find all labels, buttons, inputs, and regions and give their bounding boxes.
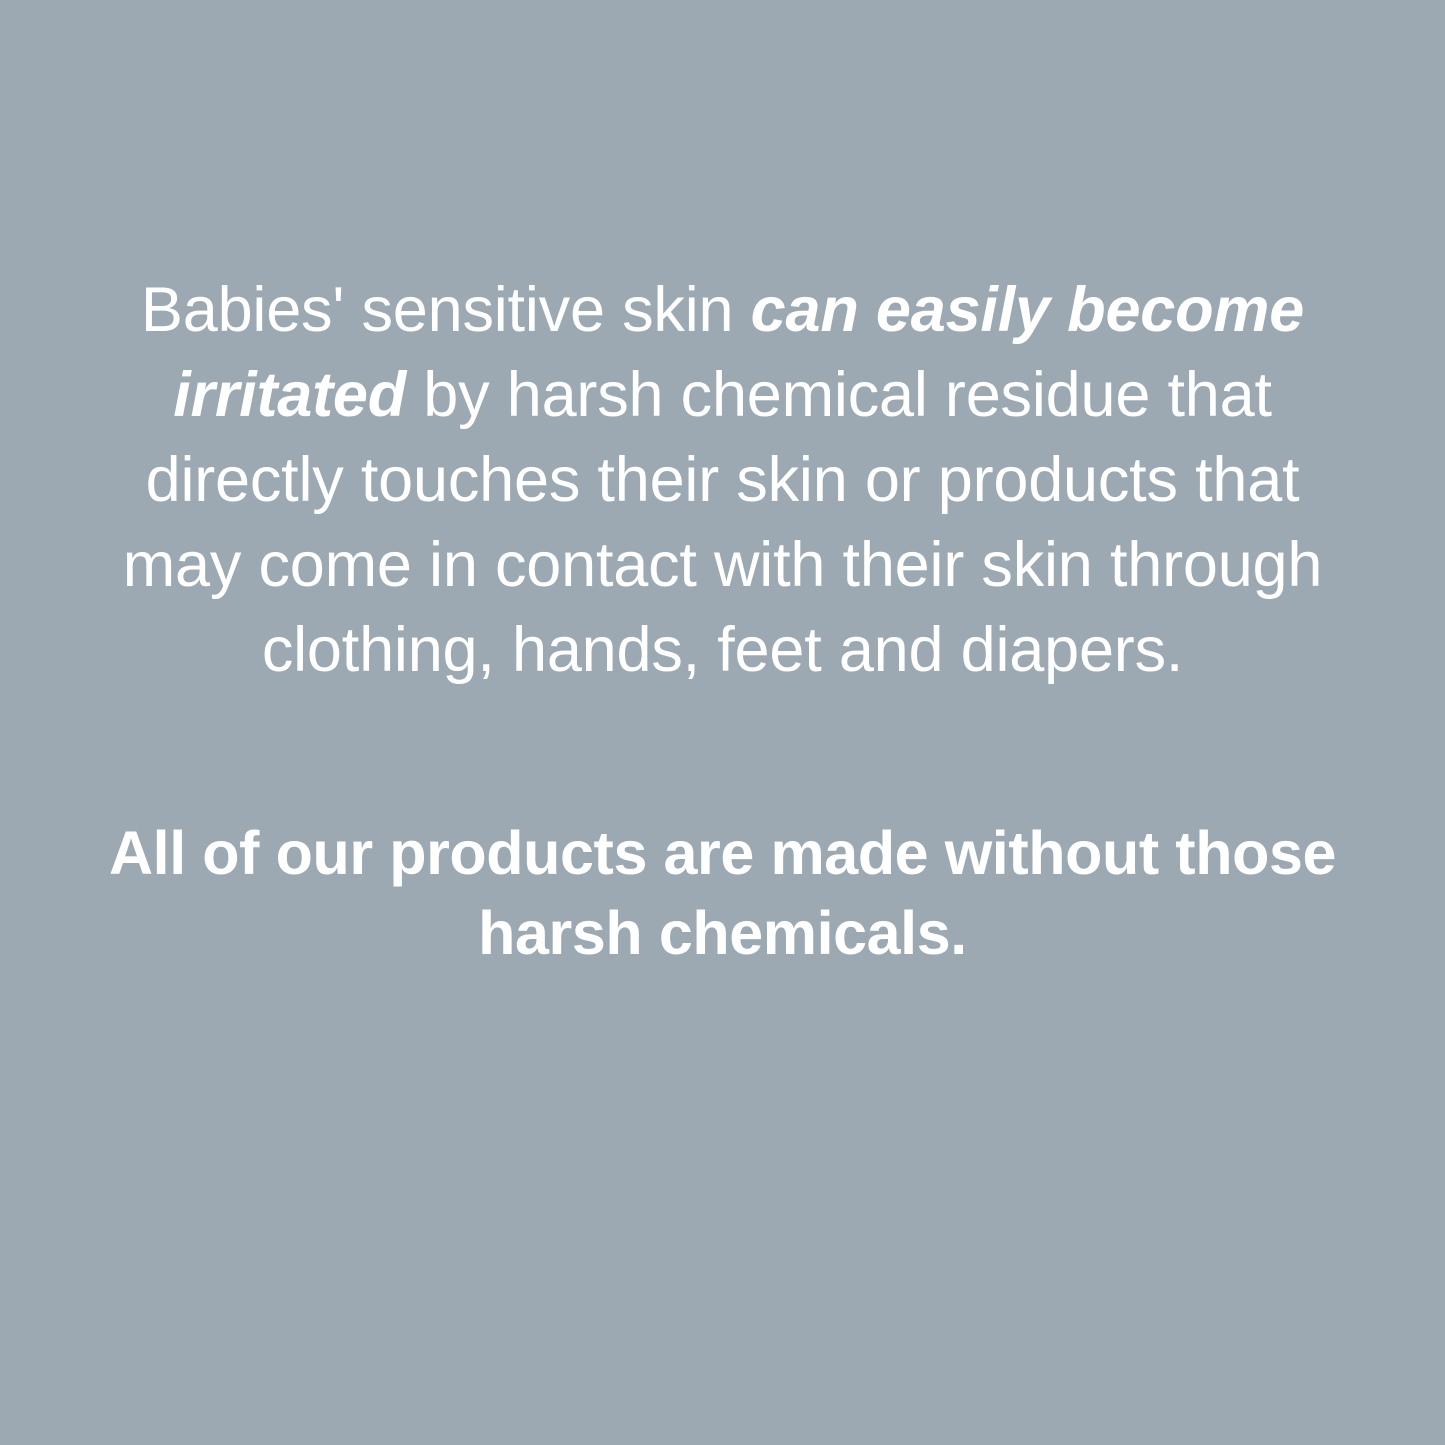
promotional-text-card: Babies' sensitive skin can easily become… <box>0 0 1445 1445</box>
body-paragraph: Babies' sensitive skin can easily become… <box>98 0 1348 693</box>
body-lead-text: Babies' sensitive skin <box>141 275 751 345</box>
paragraph-spacer <box>98 693 1348 813</box>
closing-statement: All of our products are made without tho… <box>98 813 1348 973</box>
text-content-block: Babies' sensitive skin can easily become… <box>98 0 1348 973</box>
